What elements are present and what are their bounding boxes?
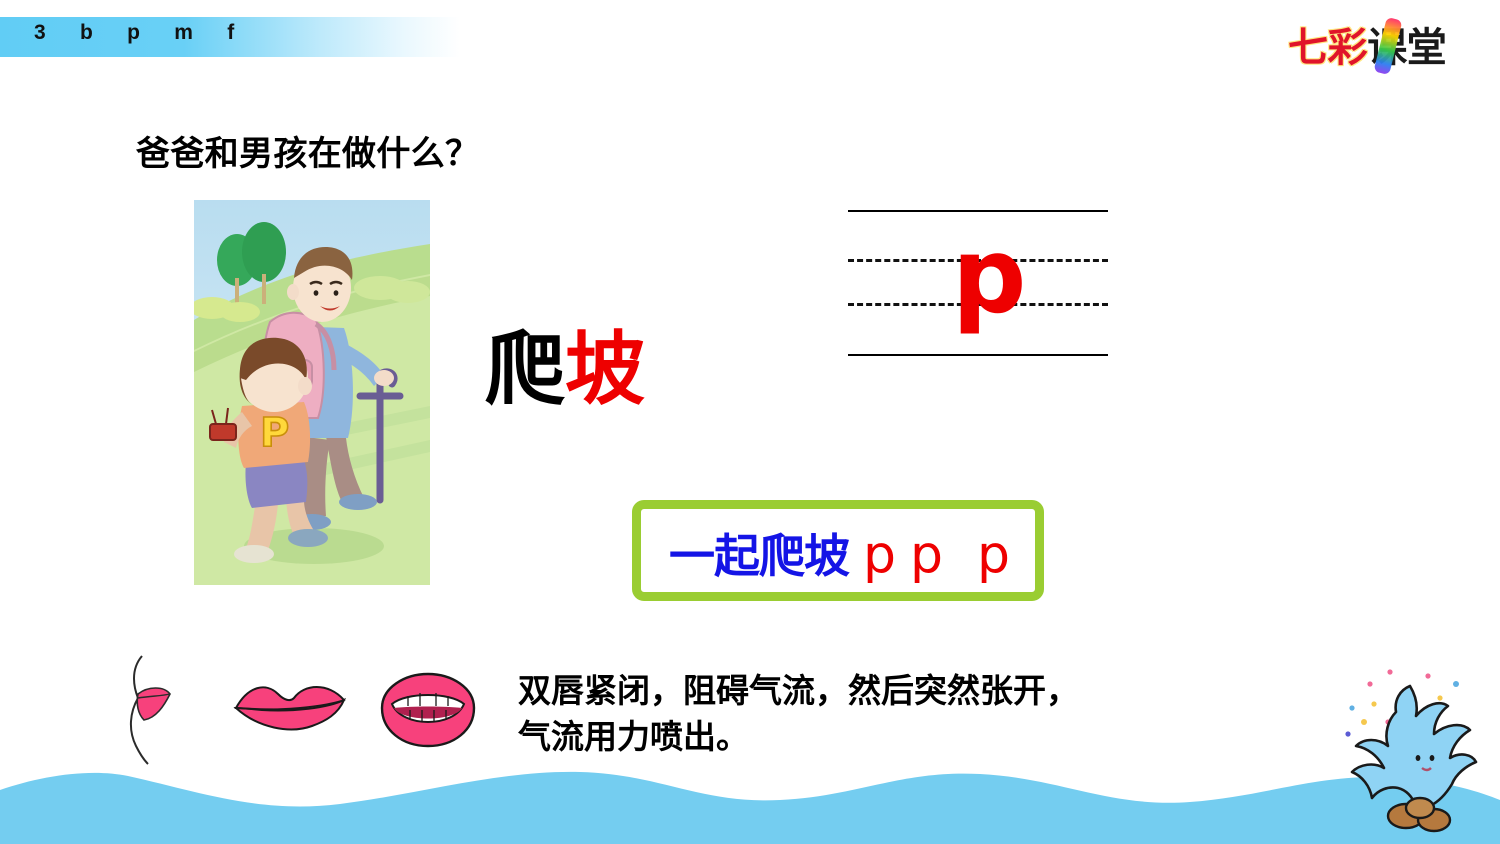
- phrase-line: 一起爬坡ppp: [669, 523, 1010, 600]
- phrase-chinese: 一起爬坡: [669, 530, 849, 582]
- grid-line-top-solid: [848, 210, 1108, 212]
- vocab-char-2: 坡: [565, 325, 645, 414]
- brand-logo-part1: 七彩: [1288, 26, 1367, 70]
- phrase-pinyin-1: p: [863, 525, 896, 585]
- vocab-char-1: 爬: [485, 325, 565, 414]
- slide-canvas: 3 b p m f 七彩课堂 爸爸和男孩在做什么？: [0, 0, 1500, 844]
- phrase-pinyin-2: p: [910, 525, 943, 585]
- lips-closed-front-icon: [232, 680, 350, 741]
- articulation-description: 双唇紧闭，阻碍气流，然后突然张开， 气流用力喷出。: [518, 668, 1278, 760]
- four-line-writing-grid: p: [848, 210, 1108, 357]
- phrase-pinyin-3: p: [977, 525, 1010, 585]
- brand-logo: 七彩课堂: [1288, 20, 1472, 78]
- coral-decoration: [1334, 650, 1486, 836]
- phrase-box: 一起爬坡ppp: [632, 500, 1044, 601]
- brand-logo-text: 七彩课堂: [1288, 22, 1446, 74]
- bottom-wave-decoration: [0, 748, 1500, 844]
- mouth-open-with-teeth-icon: [380, 672, 476, 753]
- page-title: 爸爸和男孩在做什么？: [136, 126, 479, 175]
- grid-letter-p: p: [952, 224, 1026, 328]
- vocab-word: 爬坡: [485, 330, 645, 410]
- lesson-label: 3 b p m f: [34, 21, 238, 45]
- svg-text:P: P: [260, 410, 289, 456]
- description-line-1: 双唇紧闭，阻碍气流，然后突然张开，: [518, 668, 1278, 714]
- grid-line-bottom-solid: [848, 354, 1108, 356]
- illustration-father-and-boy: P: [194, 200, 430, 585]
